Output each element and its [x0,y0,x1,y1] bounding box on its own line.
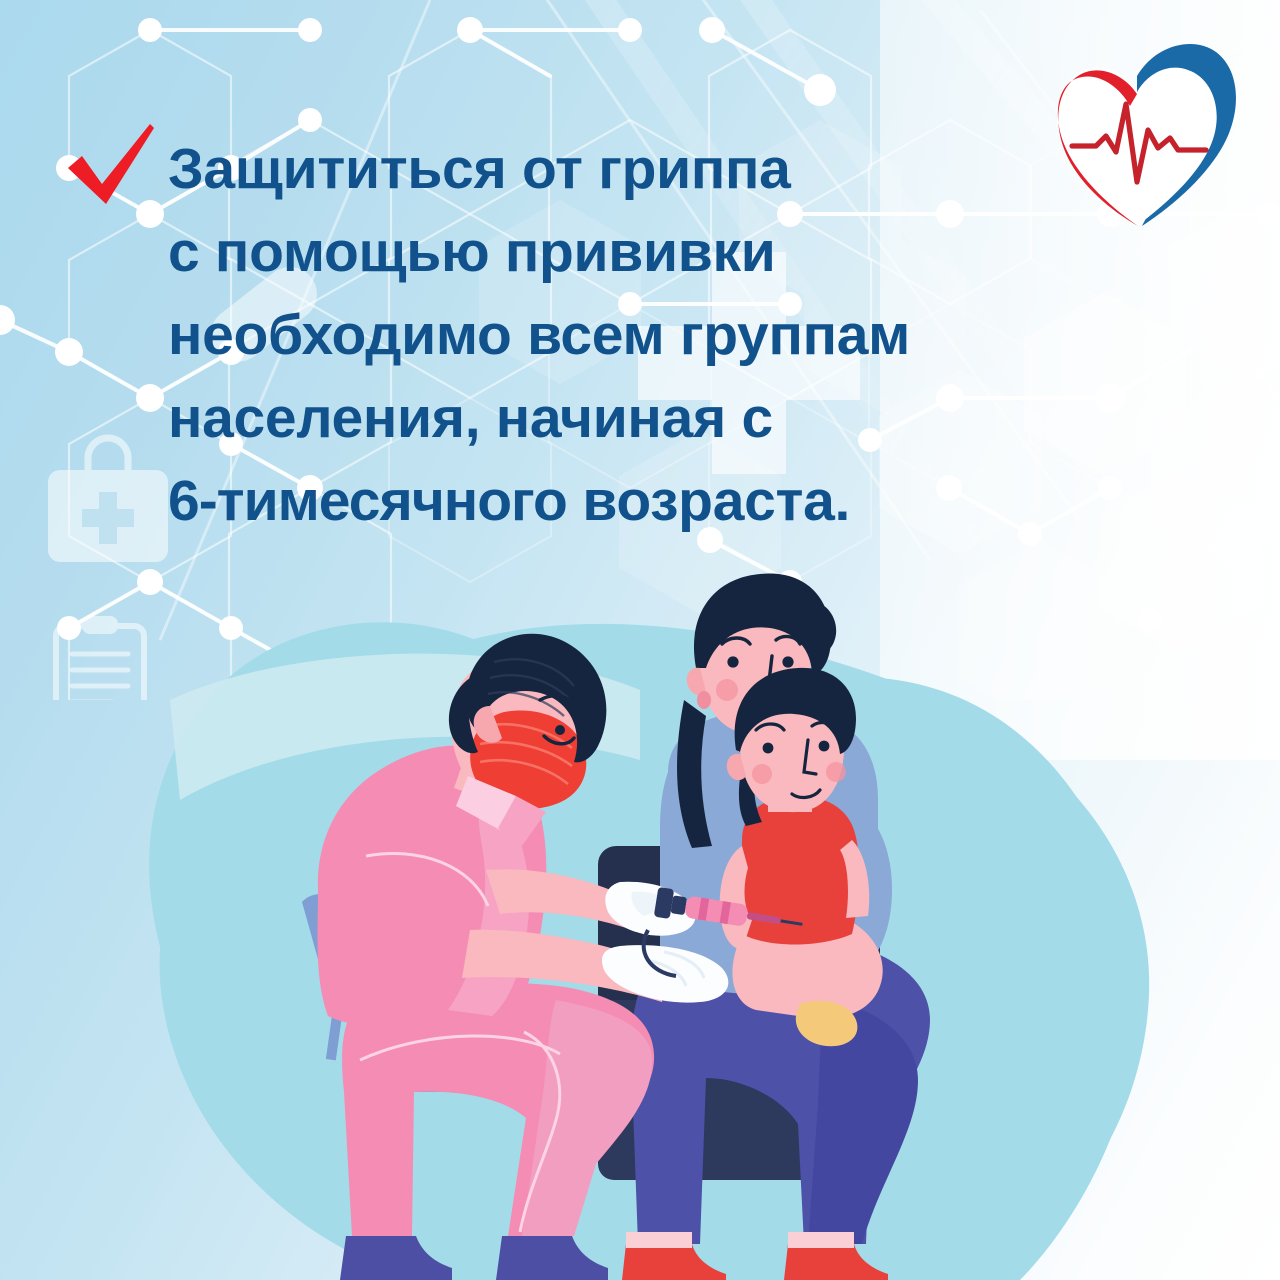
page-title: Защититься от гриппа с помощью прививки … [168,128,1178,543]
headline-line-3: необходимо всем группам [168,294,1178,377]
headline-line-1: Защититься от гриппа [168,128,1178,211]
headline-line-4: населения, начиная с [168,377,1178,460]
headline-emphasis: 6-тимесячного [168,469,567,533]
red-check-icon [62,122,158,218]
headline-emphasis-rest: возраста. [567,469,850,533]
headline-line-2: с помощью прививки [168,211,1178,294]
headline-line-5: 6-тимесячного возраста. [168,460,1178,543]
poster-canvas: Защититься от гриппа с помощью прививки … [0,0,1280,1280]
heart-pulse-logo-icon [1030,34,1245,234]
